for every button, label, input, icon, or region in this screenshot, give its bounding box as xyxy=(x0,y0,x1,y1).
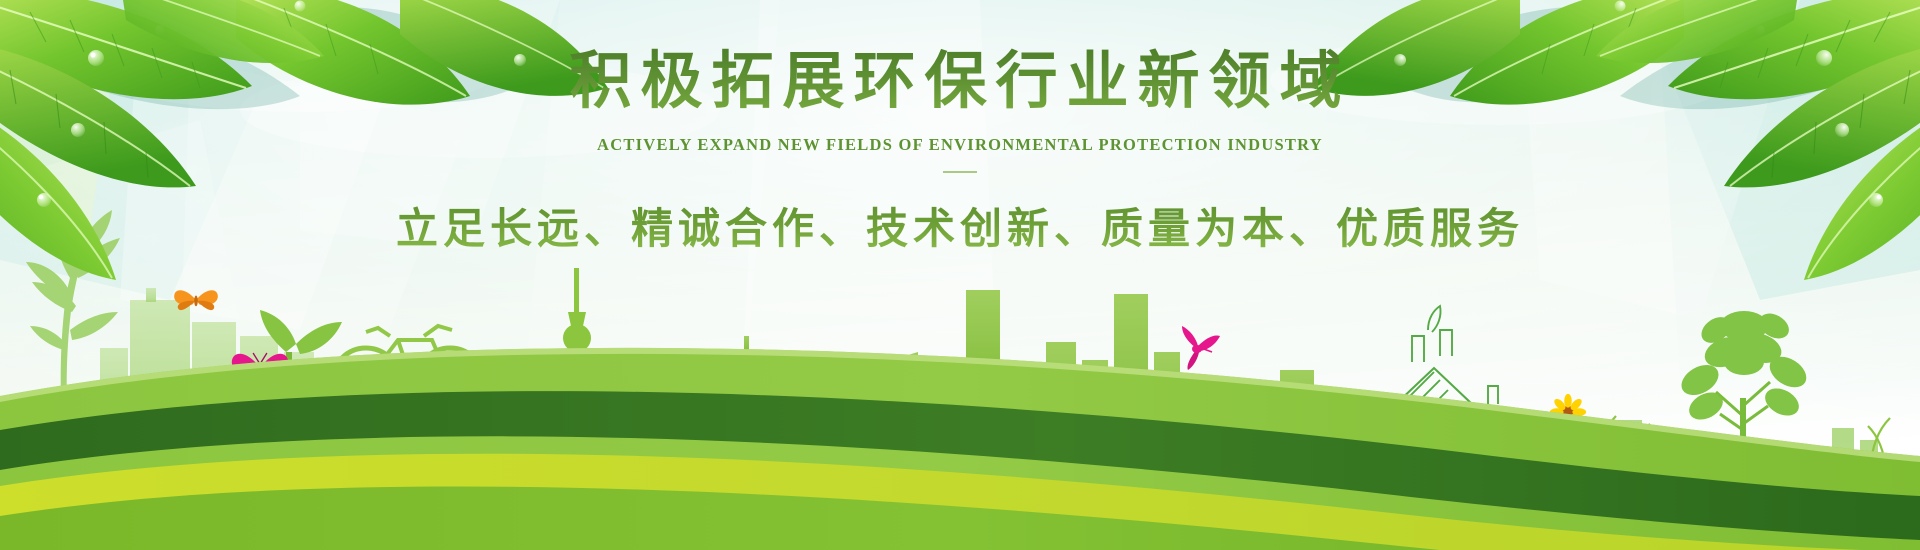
page-title: 积极拓展环保行业新领域 xyxy=(0,48,1920,117)
tagline: 立足长远、精诚合作、技术创新、质量为本、优质服务 xyxy=(0,195,1920,256)
banner-text-block: 积极拓展环保行业新领域 ACTIVELY EXPAND NEW FIELDS O… xyxy=(0,48,1920,256)
environmental-banner: 积极拓展环保行业新领域 ACTIVELY EXPAND NEW FIELDS O… xyxy=(0,0,1920,550)
subtitle-english: ACTIVELY EXPAND NEW FIELDS OF ENVIRONMEN… xyxy=(0,135,1920,155)
title-divider xyxy=(943,171,977,173)
